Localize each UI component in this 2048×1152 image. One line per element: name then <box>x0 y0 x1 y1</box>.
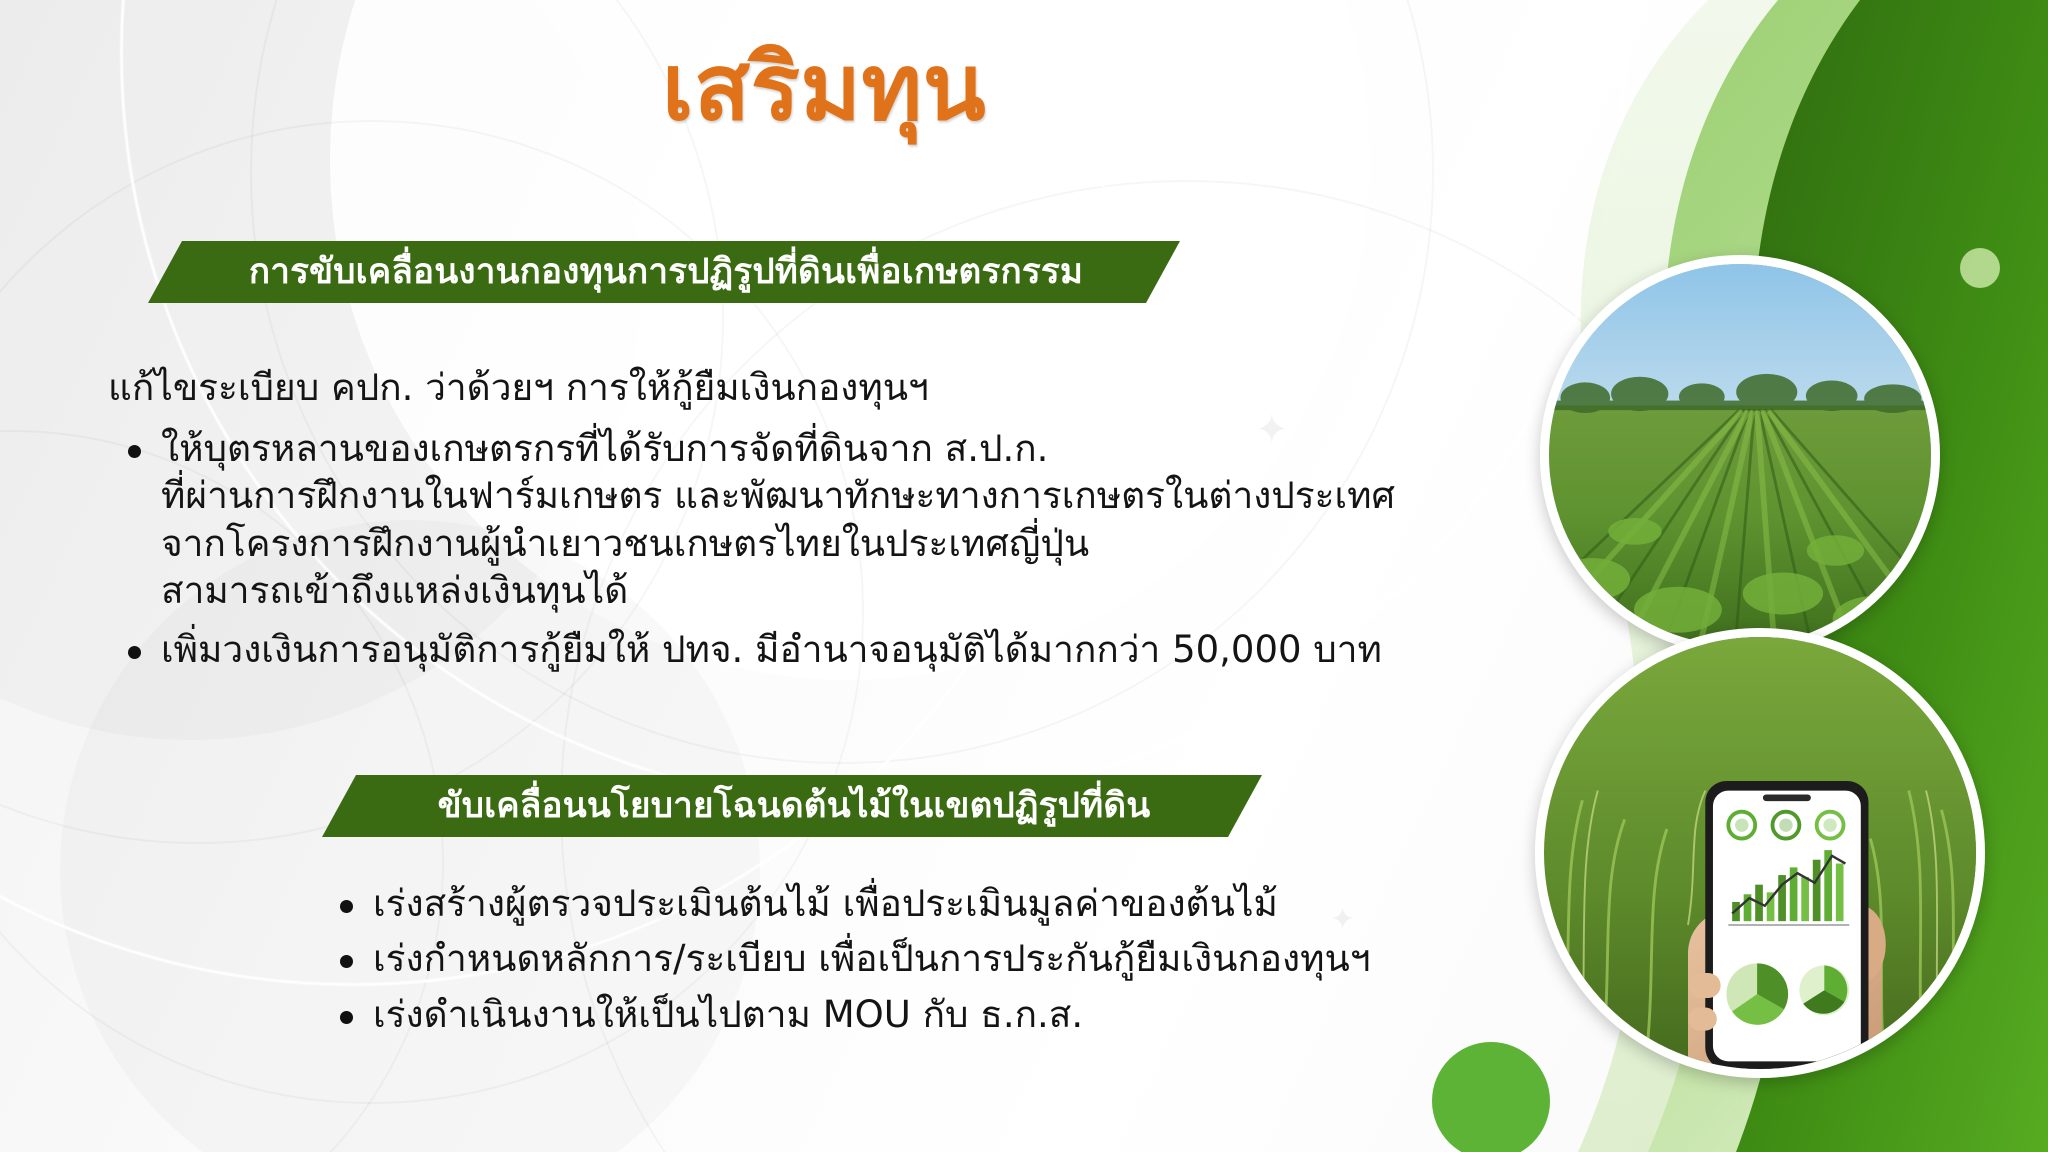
hand-holding-phone-chart-photo <box>1535 628 1985 1078</box>
list-item-line: ที่ผ่านการฝึกงานในฟาร์มเกษตร และพัฒนาทัก… <box>161 472 1395 519</box>
presentation-slide: ✦ ✦ <box>0 0 2048 1152</box>
list-item-text: เพิ่มวงเงินการอนุมัติการกู้ยืมให้ ปทจ. ม… <box>161 626 1382 673</box>
list-item: เร่งกำหนดหลักการ/ระเบียบ เพื่อเป็นการประ… <box>340 935 1460 982</box>
bullet-dot-icon <box>340 955 353 968</box>
section2-bullet-list: เร่งสร้างผู้ตรวจประเมินต้นไม้ เพื่อประเม… <box>340 880 1460 1040</box>
list-item-line: เร่งดำเนินงานให้เป็นไปตาม MOU กับ ธ.ก.ส. <box>373 991 1083 1038</box>
list-item: เพิ่มวงเงินการอนุมัติการกู้ยืมให้ ปทจ. ม… <box>128 626 1478 673</box>
list-item-text: ให้บุตรหลานของเกษตรกรที่ได้รับการจัดที่ด… <box>161 425 1395 614</box>
bullet-dot-icon <box>340 1011 353 1024</box>
banner-label: ขับเคลื่อนนโยบายโฉนดต้นไม้ในเขตปฏิรูปที่… <box>438 778 1151 833</box>
section-banner-tree-deed: ขับเคลื่อนนโยบายโฉนดต้นไม้ในเขตปฏิรูปที่… <box>322 775 1262 837</box>
list-item-line: ให้บุตรหลานของเกษตรกรที่ได้รับการจัดที่ด… <box>161 425 1395 472</box>
list-item-line: จากโครงการฝึกงานผู้นำเยาวชนเกษตรไทยในประ… <box>161 520 1395 567</box>
section1-bullet-list: ให้บุตรหลานของเกษตรกรที่ได้รับการจัดที่ด… <box>128 425 1478 676</box>
bullet-dot-icon <box>128 445 141 458</box>
section1-intro-text: แก้ไขระเบียบ คปก. ว่าด้วยฯ การให้กู้ยืมเ… <box>108 358 929 417</box>
list-item-text: เร่งดำเนินงานให้เป็นไปตาม MOU กับ ธ.ก.ส. <box>373 991 1083 1038</box>
list-item-line: เร่งสร้างผู้ตรวจประเมินต้นไม้ เพื่อประเม… <box>373 880 1278 927</box>
page-title: เสริมทุน <box>0 42 2048 134</box>
section-banner-funding: การขับเคลื่อนงานกองทุนการปฏิรูปที่ดินเพื… <box>148 241 1180 303</box>
bullet-dot-icon <box>128 646 141 659</box>
banner-label: การขับเคลื่อนงานกองทุนการปฏิรูปที่ดินเพื… <box>249 244 1083 299</box>
list-item-text: เร่งกำหนดหลักการ/ระเบียบ เพื่อเป็นการประ… <box>373 935 1371 982</box>
list-item: เร่งดำเนินงานให้เป็นไปตาม MOU กับ ธ.ก.ส. <box>340 991 1460 1038</box>
crop-field-photo <box>1540 255 1940 655</box>
bullet-dot-icon <box>340 900 353 913</box>
list-item: เร่งสร้างผู้ตรวจประเมินต้นไม้ เพื่อประเม… <box>340 880 1460 927</box>
list-item-text: เร่งสร้างผู้ตรวจประเมินต้นไม้ เพื่อประเม… <box>373 880 1278 927</box>
list-item-line: สามารถเข้าถึงแหล่งเงินทุนได้ <box>161 567 1395 614</box>
list-item: ให้บุตรหลานของเกษตรกรที่ได้รับการจัดที่ด… <box>128 425 1478 614</box>
green-accent-dot <box>1432 1042 1550 1152</box>
list-item-line: เร่งกำหนดหลักการ/ระเบียบ เพื่อเป็นการประ… <box>373 935 1371 982</box>
list-item-line: เพิ่มวงเงินการอนุมัติการกู้ยืมให้ ปทจ. ม… <box>161 626 1382 673</box>
